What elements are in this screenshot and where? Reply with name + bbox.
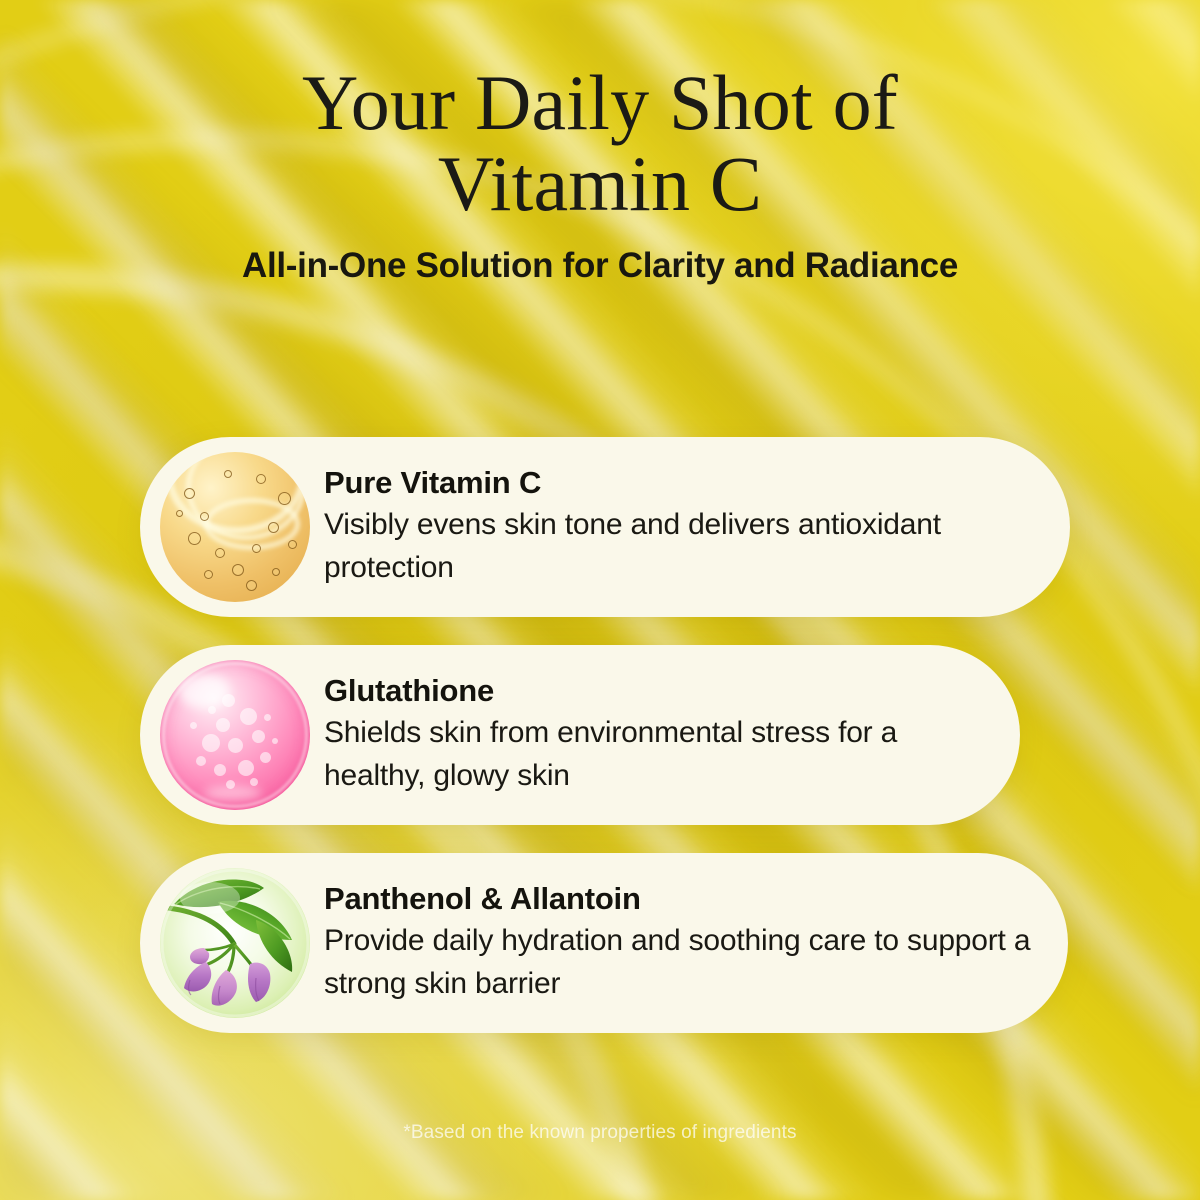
- feature-card-description: Shields skin from environmental stress f…: [324, 711, 990, 798]
- glutathione-sphere-icon: [160, 660, 310, 810]
- feature-card-description: Provide daily hydration and soothing car…: [324, 919, 1038, 1006]
- feature-card-text: Panthenol & Allantoin Provide daily hydr…: [324, 881, 1068, 1006]
- panthenol-botanical-icon: [160, 868, 310, 1018]
- feature-card-glutathione: Glutathione Shields skin from environmen…: [140, 645, 1020, 825]
- feature-card-title: Panthenol & Allantoin: [324, 881, 1038, 917]
- page-title-line-1: Your Daily Shot of: [302, 59, 898, 146]
- feature-card-text: Glutathione Shields skin from environmen…: [324, 673, 1020, 798]
- feature-card-text: Pure Vitamin C Visibly evens skin tone a…: [324, 465, 1070, 590]
- feature-card-pure-vitamin-c: Pure Vitamin C Visibly evens skin tone a…: [140, 437, 1070, 617]
- page-title-line-2: Vitamin C: [438, 140, 762, 227]
- feature-card-panthenol-allantoin: Panthenol & Allantoin Provide daily hydr…: [140, 853, 1068, 1033]
- feature-card-list: Pure Vitamin C Visibly evens skin tone a…: [0, 437, 1200, 1061]
- feature-card-description: Visibly evens skin tone and delivers ant…: [324, 503, 1040, 590]
- disclaimer-footnote: *Based on the known properties of ingred…: [0, 1122, 1200, 1144]
- header: Your Daily Shot of Vitamin C All-in-One …: [0, 62, 1200, 286]
- page-subtitle: All-in-One Solution for Clarity and Radi…: [100, 246, 1100, 286]
- feature-card-title: Pure Vitamin C: [324, 465, 1040, 501]
- feature-card-title: Glutathione: [324, 673, 990, 709]
- page-title: Your Daily Shot of Vitamin C: [220, 62, 980, 224]
- vitamin-c-gel-icon: [160, 452, 310, 602]
- promo-graphic: Your Daily Shot of Vitamin C All-in-One …: [0, 0, 1200, 1200]
